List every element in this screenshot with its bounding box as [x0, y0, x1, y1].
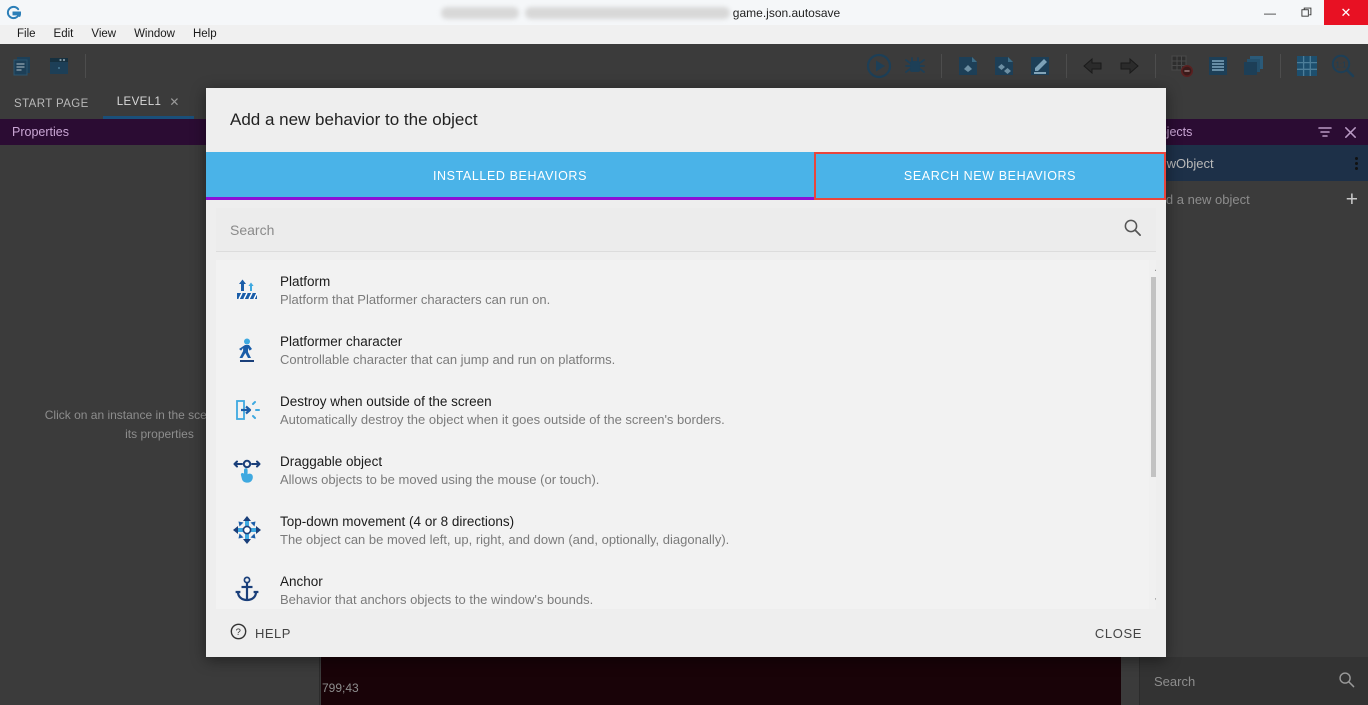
redacted-path-part-1	[441, 7, 519, 19]
toolbar-separator	[1066, 54, 1067, 78]
duplicate-scene-icon[interactable]	[989, 51, 1019, 81]
behavior-list-item[interactable]: Platform Platform that Platformer charac…	[216, 260, 1156, 320]
behavior-title: Platformer character	[280, 334, 615, 349]
behavior-list-item[interactable]: Anchor Behavior that anchors objects to …	[216, 560, 1156, 609]
dialog-tab-bar: INSTALLED BEHAVIORS SEARCH NEW BEHAVIORS	[206, 152, 1166, 200]
grid-toggle-icon[interactable]	[1292, 51, 1322, 81]
behavior-description: Controllable character that can jump and…	[280, 352, 615, 367]
tab-search-new-behaviors-label: SEARCH NEW BEHAVIORS	[904, 169, 1076, 183]
redacted-path-part-2	[525, 7, 730, 19]
layers-icon[interactable]	[1239, 51, 1269, 81]
behavior-description: Allows objects to be moved using the mou…	[280, 472, 599, 487]
tab-start-page-label: START PAGE	[14, 98, 89, 110]
menu-bar: File Edit View Window Help	[0, 25, 1368, 44]
tab-level1-label: LEVEL1	[117, 96, 162, 108]
behavior-text: Draggable object Allows objects to be mo…	[280, 454, 599, 487]
filter-icon[interactable]	[1317, 124, 1333, 140]
menu-item-view[interactable]: View	[82, 25, 125, 44]
objects-search-bar[interactable]: Search	[1140, 657, 1368, 705]
scrollbar-thumb[interactable]	[1151, 277, 1156, 477]
dialog-footer: ? HELP CLOSE	[206, 609, 1166, 657]
toolbar-left-group	[0, 51, 91, 81]
behavior-text: Platform Platform that Platformer charac…	[280, 274, 550, 307]
svg-text:?: ?	[236, 627, 242, 638]
behavior-description: Behavior that anchors objects to the win…	[280, 592, 593, 607]
scroll-up-icon[interactable]: ▲	[1149, 260, 1156, 277]
behavior-description: Platform that Platformer characters can …	[280, 292, 550, 307]
play-preview-icon[interactable]	[864, 51, 894, 81]
tab-installed-behaviors-label: INSTALLED BEHAVIORS	[433, 169, 587, 183]
tab-installed-behaviors[interactable]: INSTALLED BEHAVIORS	[206, 152, 814, 200]
behavior-title: Draggable object	[280, 454, 599, 469]
menu-item-help[interactable]: Help	[184, 25, 226, 44]
behavior-search-input[interactable]	[230, 222, 1123, 238]
behavior-list-item[interactable]: Destroy when outside of the screen Autom…	[216, 380, 1156, 440]
title-bar: game.json.autosave — ✕	[0, 0, 1368, 25]
behavior-title: Top-down movement (4 or 8 directions)	[280, 514, 729, 529]
zoom-one-to-one-icon[interactable]: 1:1	[1328, 51, 1358, 81]
dialog-tabs-wrap: INSTALLED BEHAVIORS SEARCH NEW BEHAVIORS	[206, 152, 1166, 200]
objects-list-item-newobject[interactable]: NewObject	[1140, 145, 1368, 181]
menu-item-file[interactable]: File	[8, 25, 45, 44]
gdevelop-logo-icon	[0, 0, 26, 25]
add-new-object-button[interactable]: Add a new object +	[1140, 181, 1368, 217]
debug-bug-icon[interactable]	[900, 51, 930, 81]
behavior-list-item[interactable]: Top-down movement (4 or 8 directions) Th…	[216, 500, 1156, 560]
behavior-description: The object can be moved left, up, right,…	[280, 532, 729, 547]
behavior-list-scrollbar[interactable]: ▲ ▼	[1149, 260, 1156, 609]
edit-scene-icon[interactable]	[1025, 51, 1055, 81]
behavior-title: Anchor	[280, 574, 593, 589]
platformer-character-icon	[230, 333, 264, 367]
tab-level1[interactable]: LEVEL1 ✕	[103, 88, 194, 119]
behavior-list[interactable]: Platform Platform that Platformer charac…	[216, 260, 1156, 609]
objects-search-placeholder: Search	[1154, 674, 1195, 689]
no-grid-icon[interactable]	[1167, 51, 1197, 81]
dialog-close-button[interactable]: CLOSE	[1095, 626, 1142, 641]
anchor-icon	[230, 573, 264, 607]
close-button[interactable]: ✕	[1324, 0, 1368, 25]
close-icon[interactable]	[1343, 125, 1358, 140]
menu-item-window[interactable]: Window	[125, 25, 184, 44]
main-toolbar: 1:1	[0, 44, 1368, 88]
behavior-text: Anchor Behavior that anchors objects to …	[280, 574, 593, 607]
scroll-down-icon[interactable]: ▼	[1149, 592, 1156, 609]
more-vertical-icon[interactable]	[1355, 157, 1358, 170]
menu-item-edit[interactable]: Edit	[45, 25, 83, 44]
toolbar-separator	[85, 54, 86, 78]
add-scene-icon[interactable]	[953, 51, 983, 81]
behavior-list-item[interactable]: Platformer character Controllable charac…	[216, 320, 1156, 380]
behavior-search-row[interactable]	[216, 208, 1156, 252]
tab-start-page[interactable]: START PAGE	[0, 88, 103, 119]
tab-search-new-behaviors[interactable]: SEARCH NEW BEHAVIORS	[814, 152, 1166, 200]
restore-button[interactable]	[1288, 0, 1324, 25]
behavior-description: Automatically destroy the object when it…	[280, 412, 725, 427]
toolbar-separator	[1155, 54, 1156, 78]
minimize-button[interactable]: —	[1252, 0, 1288, 25]
search-icon[interactable]	[1123, 218, 1142, 242]
svg-text:1:1: 1:1	[1335, 61, 1347, 70]
tab-level1-close-icon[interactable]: ✕	[169, 95, 179, 109]
behavior-list-item[interactable]: Draggable object Allows objects to be mo…	[216, 440, 1156, 500]
redo-arrow-icon[interactable]	[1114, 51, 1144, 81]
help-button[interactable]: ? HELP	[230, 623, 291, 643]
help-circle-icon: ?	[230, 623, 247, 643]
platform-icon	[230, 273, 264, 307]
toolbar-right-group: 1:1	[864, 51, 1368, 81]
dialog-title: Add a new behavior to the object	[206, 88, 1166, 152]
scene-coordinates-readout: 799;43	[322, 681, 359, 695]
plus-icon[interactable]: +	[1346, 189, 1358, 210]
objects-panel: Objects NewObject Add a new object +	[1139, 119, 1368, 705]
properties-panel-title: Properties	[12, 125, 69, 139]
add-behavior-dialog: Add a new behavior to the object INSTALL…	[206, 88, 1166, 657]
destroy-outside-screen-icon	[230, 393, 264, 427]
window-controls: — ✕	[1252, 0, 1368, 25]
toolbar-separator	[1280, 54, 1281, 78]
open-project-icon[interactable]	[8, 51, 38, 81]
project-manager-icon[interactable]	[44, 51, 74, 81]
undo-arrow-icon[interactable]	[1078, 51, 1108, 81]
help-label: HELP	[255, 626, 291, 641]
window-title-suffix: game.json.autosave	[733, 6, 840, 20]
behavior-title: Platform	[280, 274, 550, 289]
toolbar-separator	[941, 54, 942, 78]
search-icon[interactable]	[1338, 671, 1355, 691]
objects-panel-header: Objects	[1140, 119, 1368, 145]
list-view-icon[interactable]	[1203, 51, 1233, 81]
behavior-text: Platformer character Controllable charac…	[280, 334, 615, 367]
behavior-text: Top-down movement (4 or 8 directions) Th…	[280, 514, 729, 547]
application-window: game.json.autosave — ✕ File Edit View Wi…	[0, 0, 1368, 705]
window-title: game.json.autosave	[26, 6, 1252, 20]
behavior-title: Destroy when outside of the screen	[280, 394, 725, 409]
draggable-object-icon	[230, 453, 264, 487]
behavior-text: Destroy when outside of the screen Autom…	[280, 394, 725, 427]
top-down-movement-icon	[230, 513, 264, 547]
